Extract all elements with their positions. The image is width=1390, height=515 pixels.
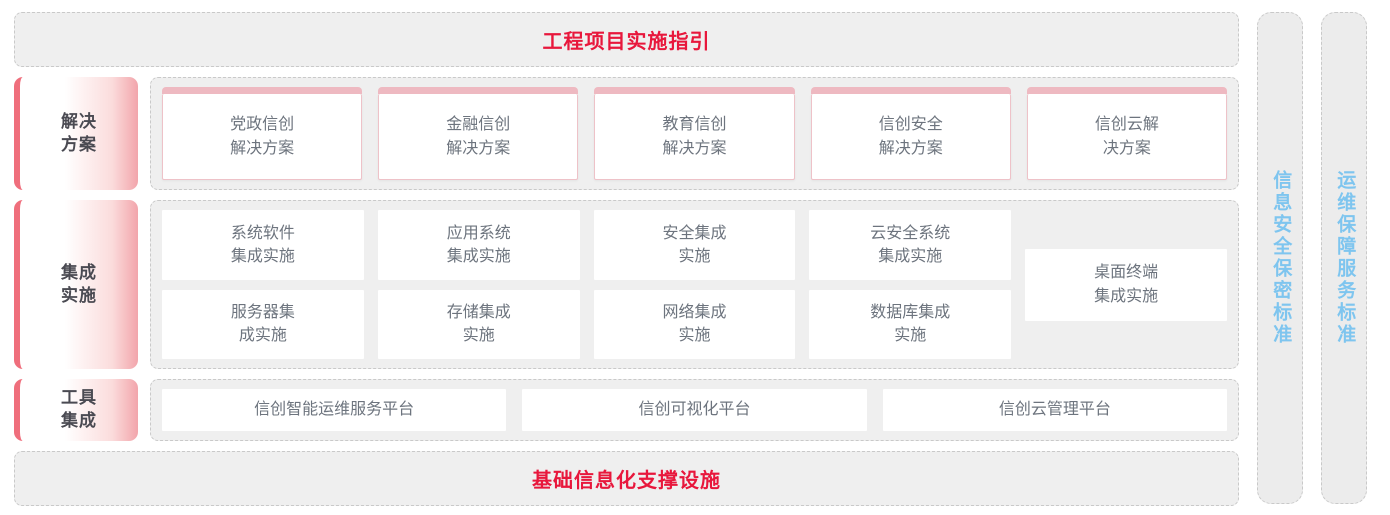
row-label-integration: 集成 实施 (14, 200, 138, 369)
header-banner: 工程项目实施指引 (14, 12, 1239, 67)
row-tools: 工具 集成 信创智能运维服务平台 信创可视化平台 信创云管理平台 (14, 379, 1239, 441)
integration-card-cloud-security-line1: 云安全系统 (870, 225, 950, 242)
solution-card-government-text: 党政信创 解决方案 (230, 113, 294, 159)
solution-card-cloud-line2: 决方案 (1103, 140, 1151, 157)
solution-card-education-text: 教育信创 解决方案 (663, 113, 727, 159)
integration-card-network-line1: 网络集成 (662, 304, 726, 321)
solution-card-cloud-line1: 信创云解 (1095, 116, 1159, 133)
integration-card-desktop-terminal-line2: 集成实施 (1094, 288, 1158, 305)
row-label-tools-line2: 集成 (61, 411, 97, 430)
tool-card-cloud-management-platform-label: 信创云管理平台 (999, 398, 1111, 421)
solution-card-security[interactable]: 信创安全 解决方案 (811, 94, 1011, 180)
solution-card-slot: 党政信创 解决方案 (162, 87, 362, 180)
solution-card-government[interactable]: 党政信创 解决方案 (162, 94, 362, 180)
integration-card-database-line2: 实施 (894, 327, 926, 344)
integration-card-system-software-text: 系统软件 集成实施 (231, 222, 295, 268)
row-label-solutions-text: 解决 方案 (61, 111, 97, 157)
integration-column: 安全集成 实施 网络集成 实施 (594, 210, 796, 359)
tool-card-visualization-platform[interactable]: 信创可视化平台 (522, 389, 866, 431)
row-integration: 集成 实施 系统软件 集成实施 (14, 200, 1239, 369)
integration-card-storage-line1: 存储集成 (447, 304, 511, 321)
integration-column: 云安全系统 集成实施 数据库集成 实施 (809, 210, 1011, 359)
integration-card-application-system[interactable]: 应用系统 集成实施 (378, 210, 580, 280)
solution-card-cloud-text: 信创云解 决方案 (1095, 113, 1159, 159)
footer-title: 基础信息化支撑设施 (532, 464, 721, 493)
row-label-solutions-line1: 解决 (61, 112, 97, 131)
integration-card-network-line2: 实施 (678, 327, 710, 344)
solution-card-government-line2: 解决方案 (230, 140, 294, 157)
integration-card-database[interactable]: 数据库集成 实施 (809, 290, 1011, 360)
footer-banner: 基础信息化支撑设施 (14, 451, 1239, 506)
side-panel-ops-standard-label: 运维保障服务标准 (1330, 170, 1359, 346)
integration-card-application-system-text: 应用系统 集成实施 (447, 222, 511, 268)
side-panel-security-standard: 信息安全保密标准 (1257, 12, 1303, 504)
solutions-grid: 党政信创 解决方案 金融信创 解决方案 (162, 87, 1227, 180)
integration-card-network[interactable]: 网络集成 实施 (594, 290, 796, 360)
integration-card-storage[interactable]: 存储集成 实施 (378, 290, 580, 360)
row-body-integration: 系统软件 集成实施 服务器集 成实施 (150, 200, 1239, 369)
row-solutions: 解决 方案 党政信创 解决方案 (14, 77, 1239, 190)
integration-column: 系统软件 集成实施 服务器集 成实施 (162, 210, 364, 359)
integration-card-application-system-line2: 集成实施 (447, 248, 511, 265)
solution-card-finance-line1: 金融信创 (446, 116, 510, 133)
row-body-solutions: 党政信创 解决方案 金融信创 解决方案 (150, 77, 1239, 190)
solution-card-education[interactable]: 教育信创 解决方案 (594, 94, 794, 180)
integration-card-desktop-terminal-text: 桌面终端 集成实施 (1094, 261, 1158, 307)
integration-card-storage-text: 存储集成 实施 (447, 301, 511, 347)
tool-card-intelligent-ops-platform[interactable]: 信创智能运维服务平台 (162, 389, 506, 431)
integration-card-server[interactable]: 服务器集 成实施 (162, 290, 364, 360)
row-label-solutions: 解决 方案 (14, 77, 138, 190)
solution-card-slot: 教育信创 解决方案 (594, 87, 794, 180)
solution-card-education-line1: 教育信创 (663, 116, 727, 133)
integration-card-system-software-line2: 集成实施 (231, 248, 295, 265)
tool-card-visualization-platform-label: 信创可视化平台 (638, 398, 750, 421)
tools-grid: 信创智能运维服务平台 信创可视化平台 信创云管理平台 (162, 389, 1227, 431)
integration-card-security-line2: 实施 (678, 248, 710, 265)
integration-card-server-line1: 服务器集 (231, 304, 295, 321)
integration-card-system-software[interactable]: 系统软件 集成实施 (162, 210, 364, 280)
solution-card-slot: 信创安全 解决方案 (811, 87, 1011, 180)
integration-card-desktop-terminal[interactable]: 桌面终端 集成实施 (1025, 249, 1227, 321)
row-label-tools-text: 工具 集成 (61, 387, 97, 433)
integration-column: 桌面终端 集成实施 (1025, 210, 1227, 359)
integration-card-desktop-terminal-line1: 桌面终端 (1094, 264, 1158, 281)
row-label-integration-line1: 集成 (61, 263, 97, 282)
integration-card-security-text: 安全集成 实施 (662, 222, 726, 268)
side-panel-security-standard-label: 信息安全保密标准 (1266, 170, 1295, 346)
page-title: 工程项目实施指引 (543, 25, 711, 54)
tool-card-cloud-management-platform[interactable]: 信创云管理平台 (883, 389, 1227, 431)
integration-card-storage-line2: 实施 (463, 327, 495, 344)
solution-card-finance[interactable]: 金融信创 解决方案 (378, 94, 578, 180)
row-label-tools: 工具 集成 (14, 379, 138, 441)
solution-card-slot: 金融信创 解决方案 (378, 87, 578, 180)
row-label-integration-text: 集成 实施 (61, 262, 97, 308)
solution-card-finance-text: 金融信创 解决方案 (446, 113, 510, 159)
solution-card-finance-line2: 解决方案 (446, 140, 510, 157)
solution-card-security-text: 信创安全 解决方案 (879, 113, 943, 159)
integration-card-system-software-line1: 系统软件 (231, 225, 295, 242)
integration-card-server-text: 服务器集 成实施 (231, 301, 295, 347)
solution-card-education-line2: 解决方案 (663, 140, 727, 157)
row-body-tools: 信创智能运维服务平台 信创可视化平台 信创云管理平台 (150, 379, 1239, 441)
solution-card-security-line2: 解决方案 (879, 140, 943, 157)
solution-card-government-line1: 党政信创 (230, 116, 294, 133)
side-panel-ops-standard: 运维保障服务标准 (1321, 12, 1367, 504)
integration-card-server-line2: 成实施 (239, 327, 287, 344)
integration-card-cloud-security-text: 云安全系统 集成实施 (870, 222, 950, 268)
integration-card-database-text: 数据库集成 实施 (870, 301, 950, 347)
solution-card-cloud[interactable]: 信创云解 决方案 (1027, 94, 1227, 180)
integration-card-cloud-security-line2: 集成实施 (878, 248, 942, 265)
integration-card-network-text: 网络集成 实施 (662, 301, 726, 347)
row-label-solutions-line2: 方案 (61, 135, 97, 154)
tool-card-intelligent-ops-platform-label: 信创智能运维服务平台 (254, 398, 414, 421)
integration-card-database-line1: 数据库集成 (870, 304, 950, 321)
solution-card-security-line1: 信创安全 (879, 116, 943, 133)
diagram-root: 工程项目实施指引 解决 方案 党政信创 解决方案 (0, 0, 1390, 515)
row-label-tools-line1: 工具 (61, 388, 97, 407)
row-label-integration-line2: 实施 (61, 286, 97, 305)
integration-card-cloud-security[interactable]: 云安全系统 集成实施 (809, 210, 1011, 280)
integration-card-security[interactable]: 安全集成 实施 (594, 210, 796, 280)
solution-card-slot: 信创云解 决方案 (1027, 87, 1227, 180)
integration-column: 应用系统 集成实施 存储集成 实施 (378, 210, 580, 359)
integration-grid: 系统软件 集成实施 服务器集 成实施 (162, 210, 1227, 359)
integration-card-application-system-line1: 应用系统 (447, 225, 511, 242)
main-column: 工程项目实施指引 解决 方案 党政信创 解决方案 (14, 12, 1239, 504)
integration-card-security-line1: 安全集成 (662, 225, 726, 242)
